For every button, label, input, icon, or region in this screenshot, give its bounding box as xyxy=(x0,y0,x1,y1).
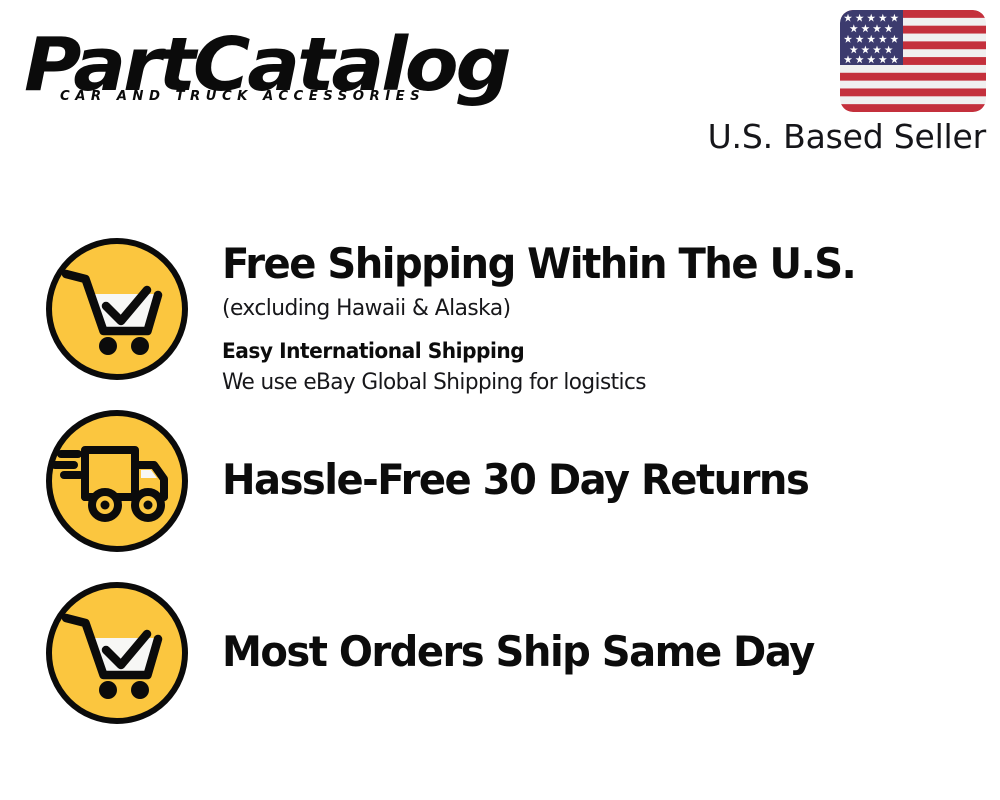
feature-row: Free Shipping Within The U.S. (excluding… xyxy=(0,236,1000,398)
feature-row: Most Orders Ship Same Day xyxy=(0,580,1000,726)
feature-title: Most Orders Ship Same Day xyxy=(222,626,965,678)
feature-text-block: Most Orders Ship Same Day xyxy=(222,580,1000,678)
feature-row: Hassle-Free 30 Day Returns xyxy=(0,408,1000,554)
feature-text-block: Free Shipping Within The U.S. (excluding… xyxy=(222,236,1000,398)
feature-title: Hassle-Free 30 Day Returns xyxy=(222,454,965,506)
shopping-cart-check-icon xyxy=(44,236,190,382)
page-header: PartCatalog CAR AND TRUCK ACCESSORIES xyxy=(0,0,1000,175)
shopping-cart-check-icon xyxy=(44,580,190,726)
feature-title: Free Shipping Within The U.S. xyxy=(222,238,965,290)
brand-tagline: CAR AND TRUCK ACCESSORIES xyxy=(60,88,425,104)
us-based-seller-label: U.S. Based Seller xyxy=(706,117,986,157)
us-flag-icon xyxy=(840,10,986,112)
feature-note: (excluding Hawaii & Alaska) xyxy=(222,292,973,324)
feature-sub-note: We use eBay Global Shipping for logistic… xyxy=(222,366,969,398)
feature-sub-title: Easy International Shipping xyxy=(222,336,969,366)
brand-logo[interactable]: PartCatalog CAR AND TRUCK ACCESSORIES xyxy=(24,22,494,117)
delivery-truck-icon xyxy=(44,408,190,554)
feature-text-block: Hassle-Free 30 Day Returns xyxy=(222,408,1000,506)
us-based-seller-badge: U.S. Based Seller xyxy=(706,10,986,157)
